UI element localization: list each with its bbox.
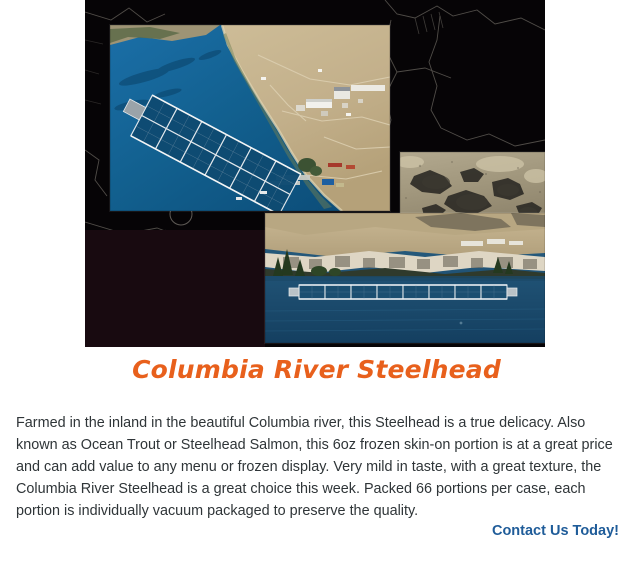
photo-river-pens <box>265 213 545 343</box>
photo-collage <box>85 0 545 347</box>
product-description: Farmed in the inland in the beautiful Co… <box>16 412 616 522</box>
photo-aerial-river <box>110 25 390 211</box>
contact-us-link[interactable]: Contact Us Today! <box>492 523 619 539</box>
collage-warm-tint <box>85 230 265 347</box>
page-title: Columbia River Steelhead <box>0 355 633 384</box>
